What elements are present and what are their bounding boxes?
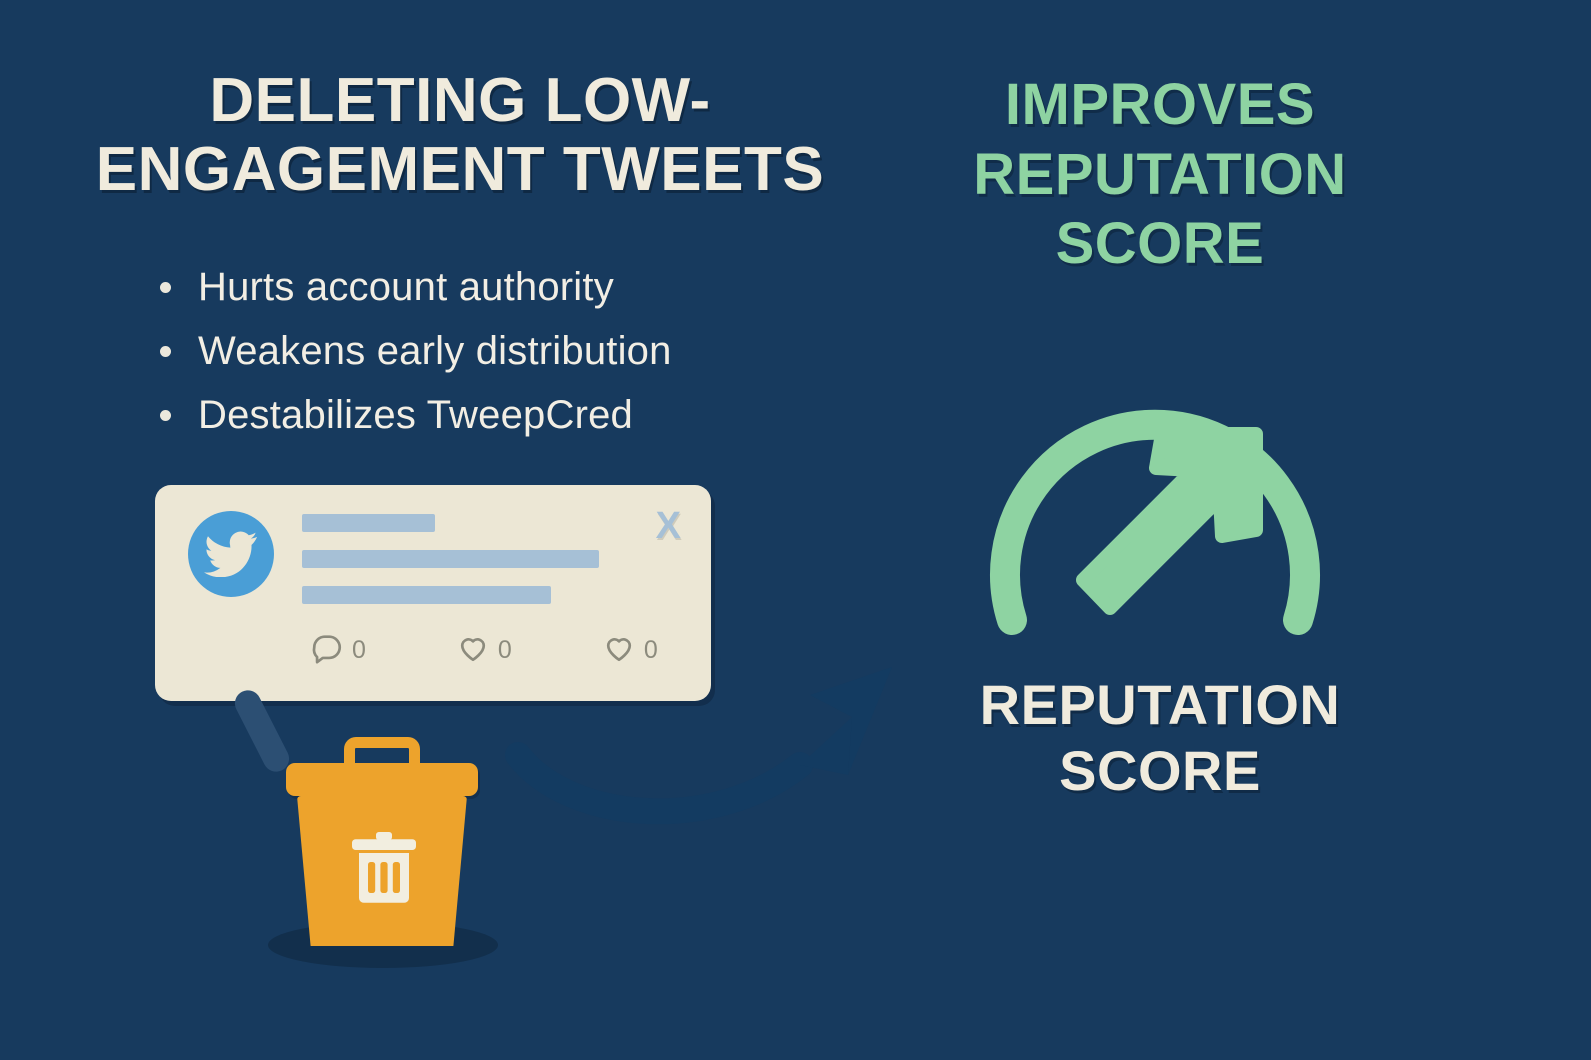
gauge-arrow-up-icon xyxy=(950,330,1360,642)
heart-icon xyxy=(456,631,490,670)
twitter-bird-icon xyxy=(188,511,274,597)
list-item: Hurts account authority xyxy=(150,255,850,319)
right-heading: IMPROVES REPUTATION SCORE xyxy=(900,70,1420,279)
bullet-text: Hurts account authority xyxy=(198,265,614,309)
right-heading-line-3: SCORE xyxy=(900,209,1420,279)
bullet-text: Destabilizes TweepCred xyxy=(198,393,633,437)
right-heading-line-1: IMPROVES xyxy=(900,70,1420,140)
infographic-canvas: DELETING LOW- ENGAGEMENT TWEETS Hurts ac… xyxy=(0,0,1591,1060)
close-icon[interactable]: X xyxy=(656,507,681,545)
list-item: Destabilizes TweepCred xyxy=(150,383,850,447)
stat-comments: 0 xyxy=(310,631,366,670)
placeholder-bar xyxy=(302,514,435,532)
gauge-label: REPUTATION SCORE xyxy=(900,672,1420,804)
curved-arrow-right-icon xyxy=(500,655,920,835)
gauge-label-line-1: REPUTATION xyxy=(900,672,1420,738)
comment-count: 0 xyxy=(352,636,366,665)
placeholder-bar xyxy=(302,550,599,568)
placeholder-bar xyxy=(302,586,551,604)
drawback-list: Hurts account authority Weakens early di… xyxy=(150,255,850,447)
left-heading: DELETING LOW- ENGAGEMENT TWEETS xyxy=(60,66,860,205)
bullet-text: Weakens early distribution xyxy=(198,329,672,373)
gauge-label-line-2: SCORE xyxy=(900,738,1420,804)
list-item: Weakens early distribution xyxy=(150,319,850,383)
tweet-placeholder-lines xyxy=(302,514,647,622)
left-heading-line-1: DELETING LOW- xyxy=(60,66,860,135)
comment-icon xyxy=(310,631,344,670)
trash-glyph-icon xyxy=(348,832,420,913)
left-heading-line-2: ENGAGEMENT TWEETS xyxy=(60,135,860,204)
trash-lid-icon xyxy=(286,763,478,796)
right-heading-line-2: REPUTATION xyxy=(900,140,1420,210)
